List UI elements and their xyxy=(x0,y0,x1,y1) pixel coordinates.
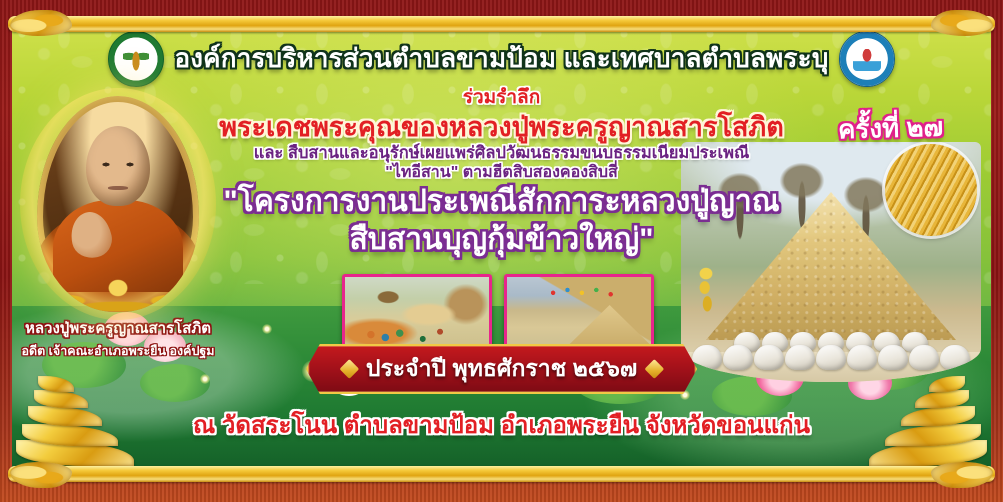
monk-portrait-photo xyxy=(37,96,199,312)
gold-ornament-top-left-icon xyxy=(10,10,72,36)
banner-header: องค์การบริหารส่วนตำบลขามป้อม และเทศบาลตำ… xyxy=(12,30,991,88)
year-banner: ประจำปี พุทธศักราช ๒๕๖๗ xyxy=(306,344,697,394)
edition-badge: ครั้งที่ ๒๗ xyxy=(837,107,943,151)
rice-sack xyxy=(723,345,753,370)
organization-title: องค์การบริหารส่วนตำบลขามป้อม และเทศบาลตำ… xyxy=(174,45,828,73)
year-text: ประจำปี พุทธศักราช ๒๕๖๗ xyxy=(366,351,637,387)
rice-sack-row-lower xyxy=(688,304,974,362)
rice-sack xyxy=(785,345,815,370)
venue-line: ณ วัดสระโนน ตำบลขามป้อม อำเภอพระยืน จังห… xyxy=(12,405,991,444)
bottom-gold-rail xyxy=(8,466,995,482)
purpose-line-2: "ไทอีสาน" ตามฮีตสิบสองคองสิบสี่ xyxy=(385,165,618,182)
monk-name: หลวงปู่พระครูญาณสารโสภิต xyxy=(20,316,216,340)
rice-sack xyxy=(816,345,846,370)
sparkle xyxy=(262,324,272,334)
gold-diamond-left-icon xyxy=(339,359,359,379)
monk-role: อดีต เจ้าคณะอำเภอพระยืน องค์ปฐม xyxy=(20,341,216,361)
photo-festival-rice-pile[interactable] xyxy=(504,274,654,352)
rice-sack xyxy=(909,345,939,370)
rice-sack xyxy=(754,345,784,370)
gold-ornament-top-right-icon xyxy=(931,10,993,36)
subdistrict-administrative-organization-seal-icon xyxy=(108,31,164,87)
gold-diamond-right-icon xyxy=(644,359,664,379)
rice-sack xyxy=(940,345,970,370)
rice-sack xyxy=(878,345,908,370)
project-title-line-2: สืบสานบุญกุ้มข้าวใหญ่" xyxy=(350,223,654,258)
project-title-line-1: "โครงการงานประเพณีสักการะหลวงปู่ญาณ xyxy=(223,185,779,220)
purpose-line-1: และ สืบสานและอนุรักษ์เผยแพร่ศิลปวัฒนธรรม… xyxy=(254,145,750,162)
honorific-line: พระเดชพระคุณของหลวงปู่พระครูญาณสารโสภิต xyxy=(219,113,784,142)
rice-sack xyxy=(847,345,877,370)
municipality-seal-icon xyxy=(839,31,895,87)
top-gold-rail xyxy=(8,16,995,32)
gold-base-ornament-icon xyxy=(37,276,199,312)
gold-ornament-bottom-left-icon xyxy=(10,462,72,488)
photo-strip xyxy=(342,274,654,352)
join-word: ร่วมรำลึก xyxy=(463,88,540,108)
monk-portrait-block: หลวงปู่พระครูญาณสารโสภิต อดีต เจ้าคณะอำเ… xyxy=(20,96,216,361)
monk-face xyxy=(86,126,150,206)
banner-canvas: องค์การบริหารส่วนตำบลขามป้อม และเทศบาลตำ… xyxy=(12,24,991,472)
photo-traditional-mural[interactable] xyxy=(342,274,492,352)
event-banner: องค์การบริหารส่วนตำบลขามป้อม และเทศบาลตำ… xyxy=(0,0,1003,502)
rice-sack xyxy=(692,345,722,370)
golden-offering-decoration xyxy=(693,266,719,320)
gold-ornament-bottom-right-icon xyxy=(931,462,993,488)
